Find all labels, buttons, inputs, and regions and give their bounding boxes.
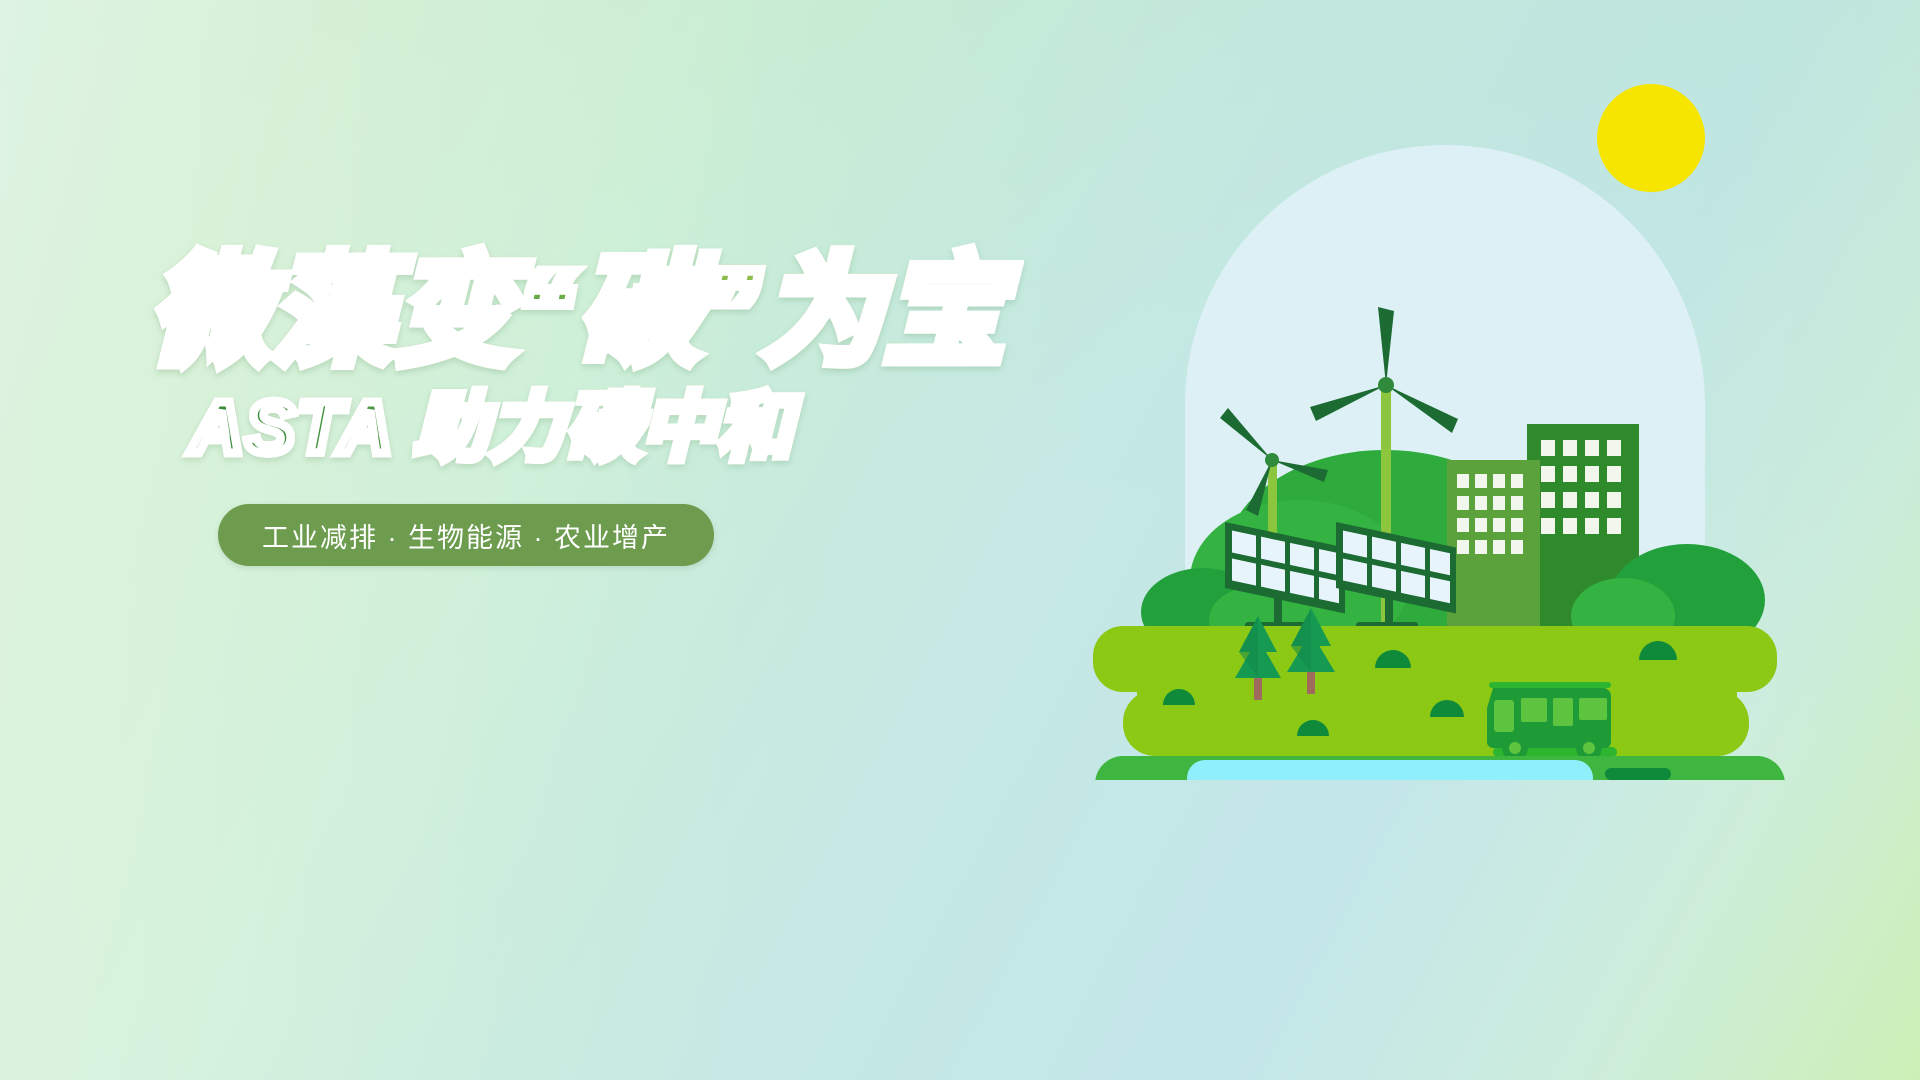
sun-icon xyxy=(1597,84,1705,192)
electric-bus xyxy=(1487,682,1617,761)
status-badge: 工业减排 · 生物能源 · 农业增产 xyxy=(218,504,714,566)
page-title: 微藻变“碳”为宝 xyxy=(150,245,910,379)
building-front xyxy=(1447,460,1540,627)
ground-layer-top xyxy=(1093,626,1777,756)
ground-layer-bottom xyxy=(1095,756,1785,780)
pond xyxy=(1187,760,1593,780)
eco-city-illustration xyxy=(1085,60,1805,780)
page-subtitle: ASTA 助力碳中和 xyxy=(150,385,910,470)
eco-banner: 微藻变“碳”为宝 ASTA 助力碳中和 工业减排 · 生物能源 · 农业增产 xyxy=(0,0,1920,1080)
headline-block: 微藻变“碳”为宝 ASTA 助力碳中和 工业减排 · 生物能源 · 农业增产 xyxy=(150,245,910,566)
